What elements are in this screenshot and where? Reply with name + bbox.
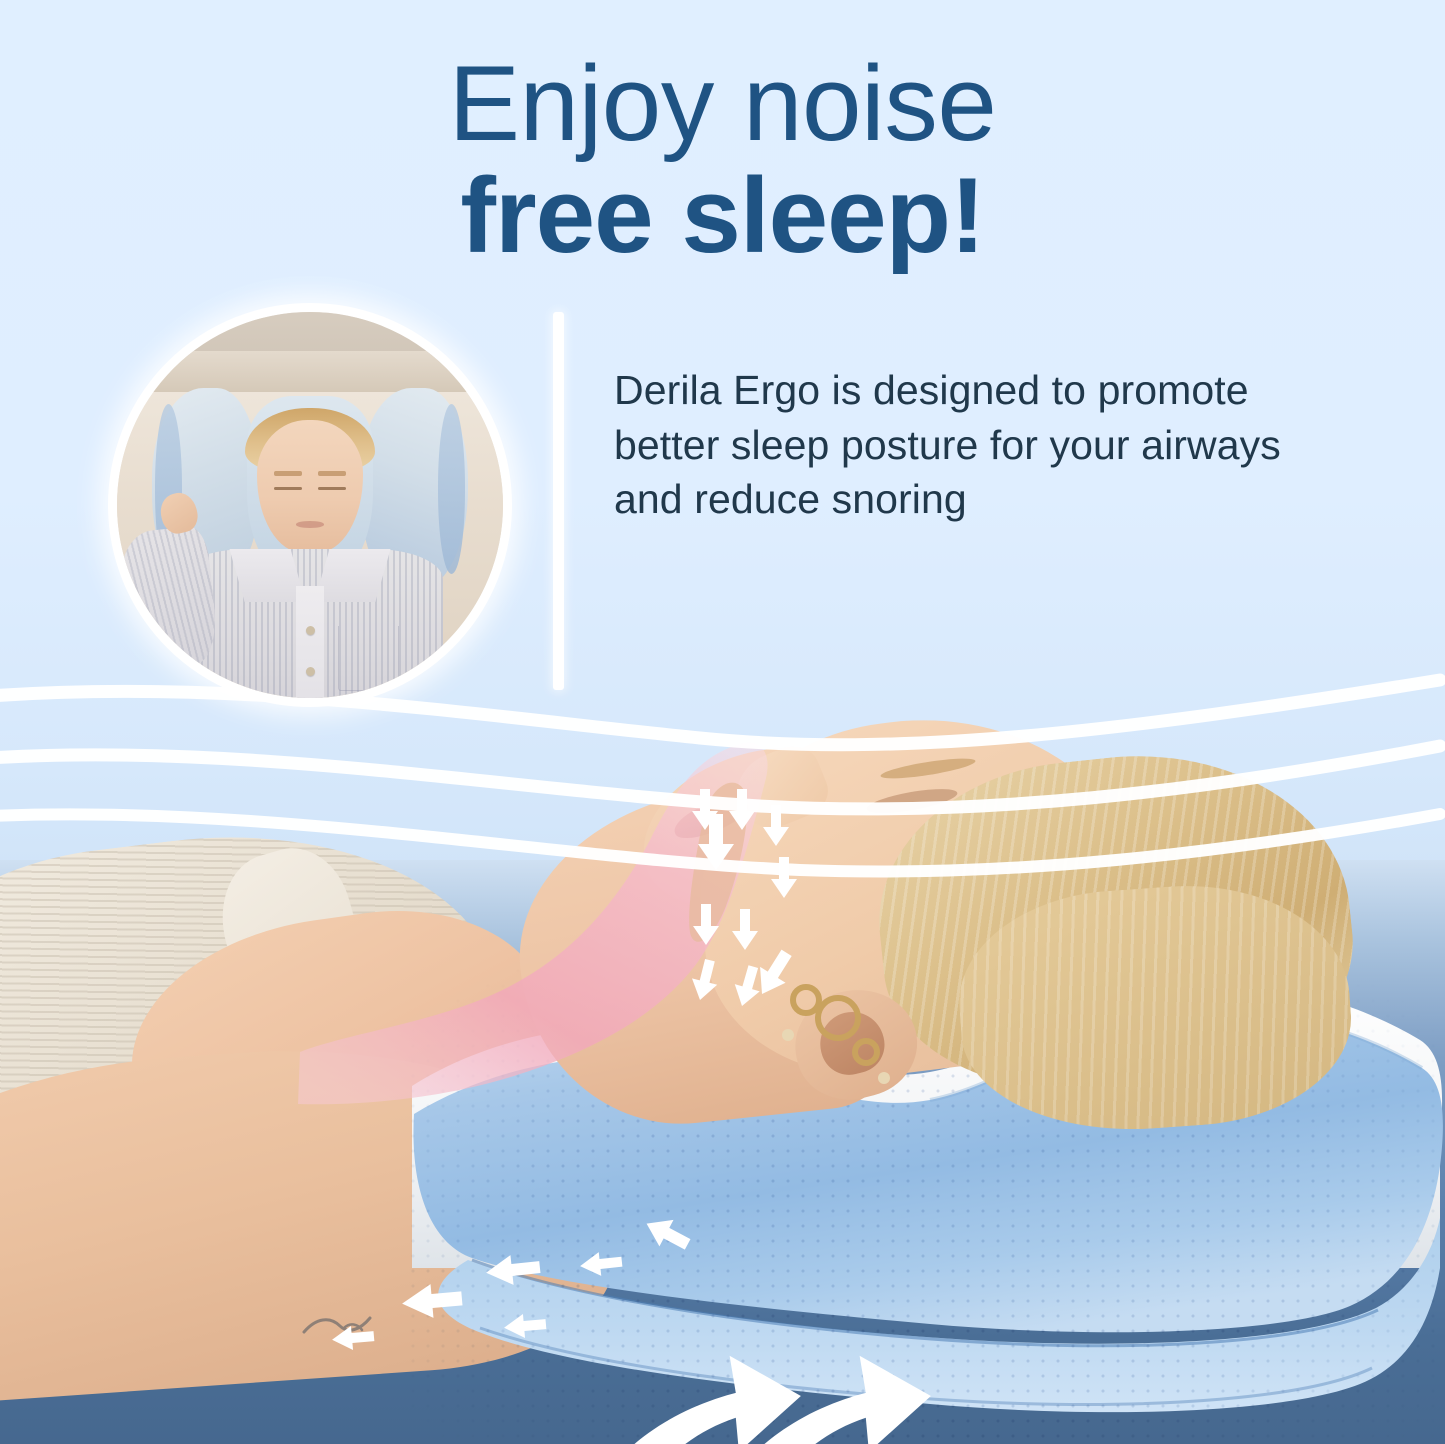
inset-eyebrow-left <box>274 471 302 477</box>
inset-headboard <box>132 351 488 391</box>
inset-shirt-pocket <box>338 626 399 691</box>
headline-line-1: Enjoy noise <box>0 48 1445 158</box>
inset-eye-left <box>274 487 302 491</box>
headline-line-2: free sleep! <box>0 160 1445 270</box>
inset-shirt-button <box>306 667 315 676</box>
inset-eyebrow-right <box>318 471 346 477</box>
hero-photo <box>0 700 1445 1444</box>
inset-photo-topdown <box>108 303 512 707</box>
arm-tattoo <box>300 1308 378 1342</box>
inset-scene <box>108 303 512 707</box>
body-paragraph: Derila Ergo is designed to promote bette… <box>614 363 1304 527</box>
page-title: Enjoy noise free sleep! <box>0 48 1445 270</box>
inset-mouth <box>296 521 324 527</box>
inset-shirt-placket <box>296 586 324 707</box>
product-marketing-image: Enjoy noise free sleep! Derila Ergo is d… <box>0 0 1445 1444</box>
vertical-divider <box>553 312 564 690</box>
inset-eye-right <box>318 487 346 491</box>
